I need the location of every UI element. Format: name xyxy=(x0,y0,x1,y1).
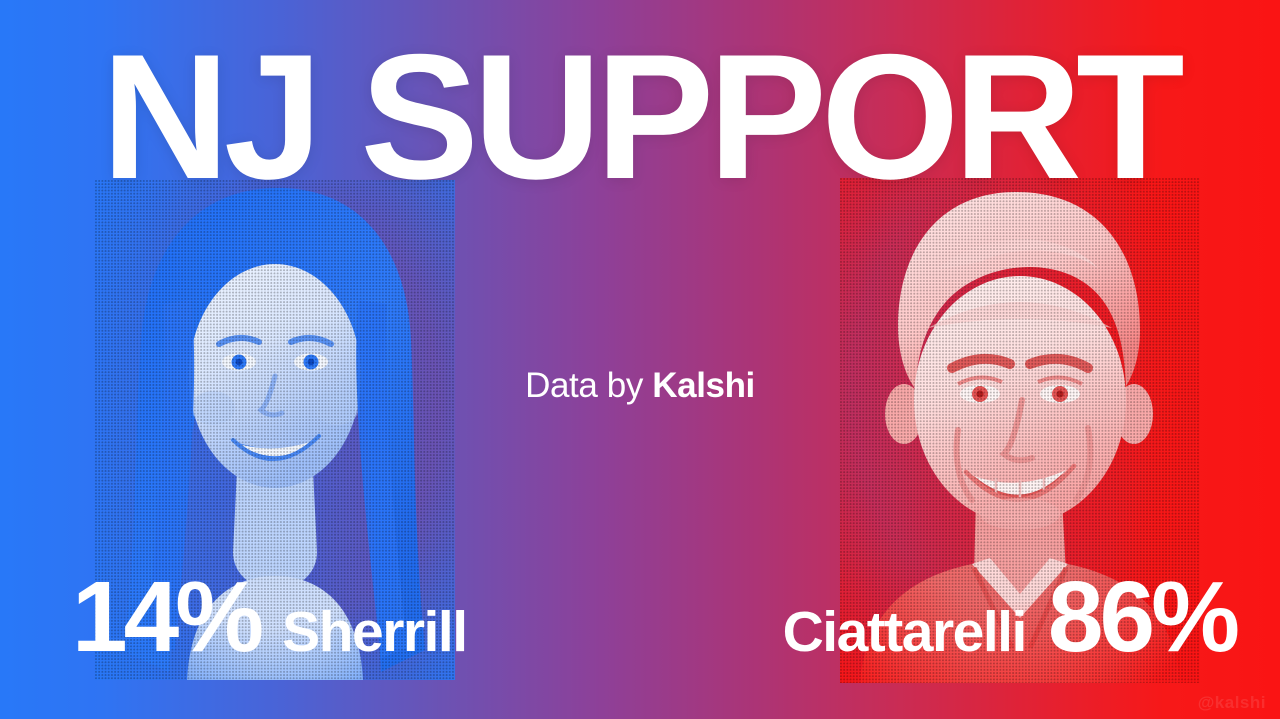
result-ciattarelli: Ciattarelli 86% xyxy=(783,567,1236,667)
corner-watermark: @kalshi xyxy=(1198,693,1266,713)
sherrill-name: Sherrill xyxy=(282,604,466,661)
result-sherrill: 14% Sherrill xyxy=(72,567,467,667)
nj-support-graphic: NJ SUPPORT Data by Kalshi 14% Sherrill C… xyxy=(0,0,1280,719)
attribution-prefix: Data by xyxy=(525,366,652,405)
page-title: NJ SUPPORT xyxy=(0,28,1280,206)
attribution-brand: Kalshi xyxy=(652,366,755,405)
data-attribution: Data by Kalshi xyxy=(0,368,1280,403)
ciattarelli-name: Ciattarelli xyxy=(783,604,1026,661)
ciattarelli-percent: 86% xyxy=(1048,567,1236,667)
sherrill-percent: 14% xyxy=(72,567,260,667)
